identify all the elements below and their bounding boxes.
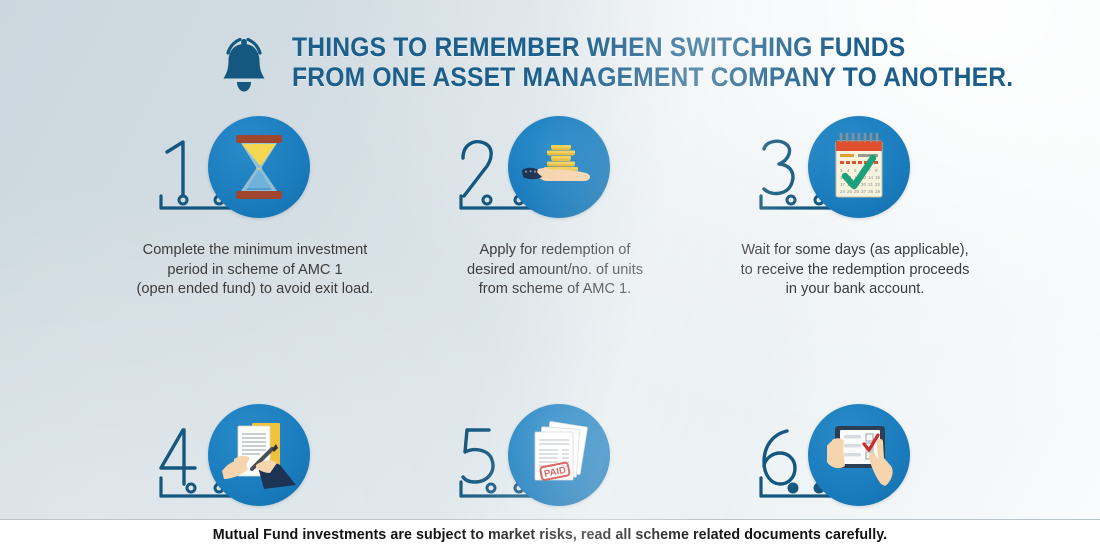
header: THINGS TO REMEMBER WHEN SWITCHING FUNDS …	[218, 32, 1068, 96]
title-line-2: FROM ONE ASSET MANAGEMENT COMPANY TO ANO…	[292, 62, 1013, 92]
caption-line: in your bank account.	[705, 280, 1005, 300]
step-circle-1	[208, 116, 310, 218]
step-badge-1	[105, 108, 405, 223]
svg-text:28: 28	[868, 189, 874, 194]
title-line-1: THINGS TO REMEMBER WHEN SWITCHING FUNDS	[292, 32, 1013, 62]
hourglass-icon	[228, 132, 290, 202]
step-item-3: 345 678 101112 131415 171819 202122 2425…	[705, 108, 1005, 300]
page-title: THINGS TO REMEMBER WHEN SWITCHING FUNDS …	[292, 32, 1068, 92]
caption-line: from scheme of AMC 1.	[405, 280, 705, 300]
svg-text:3: 3	[840, 168, 843, 173]
step-circle-6	[808, 404, 910, 506]
step-circle-3: 345 678 101112 131415 171819 202122 2425…	[808, 116, 910, 218]
svg-text:15: 15	[875, 175, 881, 180]
step-item-1: Complete the minimum investment period i…	[105, 108, 405, 300]
step-badge-6	[705, 396, 1005, 511]
svg-text:21: 21	[868, 182, 874, 187]
svg-text:24: 24	[840, 189, 846, 194]
caption-line: (open ended fund) to avoid exit load.	[105, 280, 405, 300]
caption-line: desired amount/no. of units	[405, 261, 705, 281]
svg-text:17: 17	[840, 182, 846, 187]
tax-documents-paid-icon: PAID	[524, 420, 594, 490]
step-circle-2	[508, 116, 610, 218]
step-item-2: Apply for redemption of desired amount/n…	[405, 108, 705, 300]
hand-holding-coins-icon	[520, 136, 598, 198]
svg-text:22: 22	[875, 182, 881, 187]
tablet-checklist-icon	[819, 422, 899, 488]
step-badge-3: 345 678 101112 131415 171819 202122 2425…	[705, 108, 1005, 223]
step-circle-5: PAID	[508, 404, 610, 506]
svg-text:14: 14	[868, 175, 874, 180]
form-signing-icon	[220, 417, 298, 493]
disclaimer-text: Mutual Fund investments are subject to m…	[213, 527, 887, 543]
steps-grid: Complete the minimum investment period i…	[0, 108, 1100, 550]
svg-text:27: 27	[861, 189, 867, 194]
svg-text:25: 25	[847, 189, 853, 194]
svg-text:8: 8	[875, 168, 878, 173]
step-badge-5: PAID	[405, 396, 705, 511]
calendar-check-icon: 345 678 101112 131415 171819 202122 2425…	[828, 131, 890, 203]
caption-line: period in scheme of AMC 1	[105, 261, 405, 281]
step-caption-2: Apply for redemption of desired amount/n…	[405, 241, 705, 300]
footer-disclaimer-bar: Mutual Fund investments are subject to m…	[0, 519, 1100, 550]
caption-line: Wait for some days (as applicable),	[705, 241, 1005, 261]
svg-text:4: 4	[847, 168, 850, 173]
step-caption-1: Complete the minimum investment period i…	[105, 241, 405, 300]
svg-text:26: 26	[854, 189, 860, 194]
infographic-poster: THINGS TO REMEMBER WHEN SWITCHING FUNDS …	[0, 0, 1100, 550]
step-badge-4	[105, 396, 405, 511]
bell-icon	[218, 36, 270, 96]
step-circle-4	[208, 404, 310, 506]
svg-text:5: 5	[854, 168, 857, 173]
steps-row-1: Complete the minimum investment period i…	[0, 108, 1100, 300]
svg-text:20: 20	[861, 182, 867, 187]
step-caption-3: Wait for some days (as applicable), to r…	[705, 241, 1005, 300]
caption-line: to receive the redemption proceeds	[705, 261, 1005, 281]
step-badge-2	[405, 108, 705, 223]
caption-line: Apply for redemption of	[405, 241, 705, 261]
svg-text:29: 29	[875, 189, 881, 194]
caption-line: Complete the minimum investment	[105, 241, 405, 261]
